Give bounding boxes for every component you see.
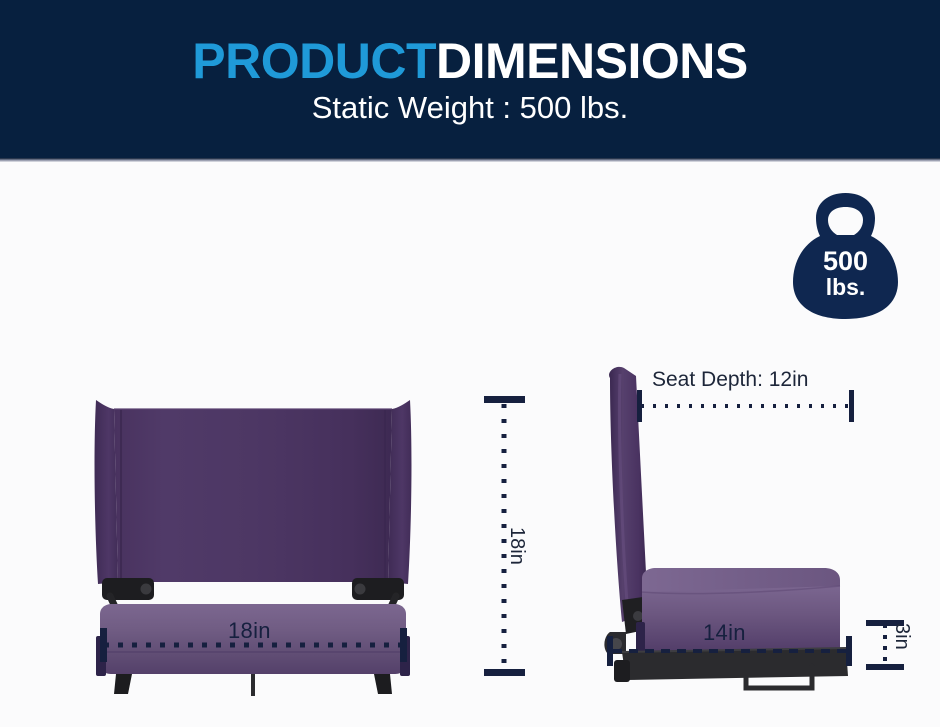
header-divider: [0, 158, 940, 162]
dimension-label-overall-height: 18in: [505, 527, 528, 565]
weight-badge: 500 lbs.: [789, 190, 902, 322]
title-main-word: DIMENSIONS: [436, 33, 748, 89]
title-accent-word: PRODUCT: [192, 33, 436, 89]
header-subtitle: Static Weight : 500 lbs.: [312, 92, 628, 123]
header-banner: PRODUCTDIMENSIONS Static Weight : 500 lb…: [0, 0, 940, 158]
dimension-label-seat-length: 14in: [703, 620, 746, 646]
dimension-label-seat-width: 18in: [228, 618, 271, 644]
dimension-label-seat-thickness: 3in: [890, 623, 913, 650]
kettlebell-icon: [789, 190, 902, 322]
infographic-root: PRODUCTDIMENSIONS Static Weight : 500 lb…: [0, 0, 940, 727]
page-title: PRODUCTDIMENSIONS: [192, 36, 747, 86]
chair-front-view: [88, 386, 418, 696]
dimension-label-seat-depth: Seat Depth: 12in: [652, 368, 808, 392]
